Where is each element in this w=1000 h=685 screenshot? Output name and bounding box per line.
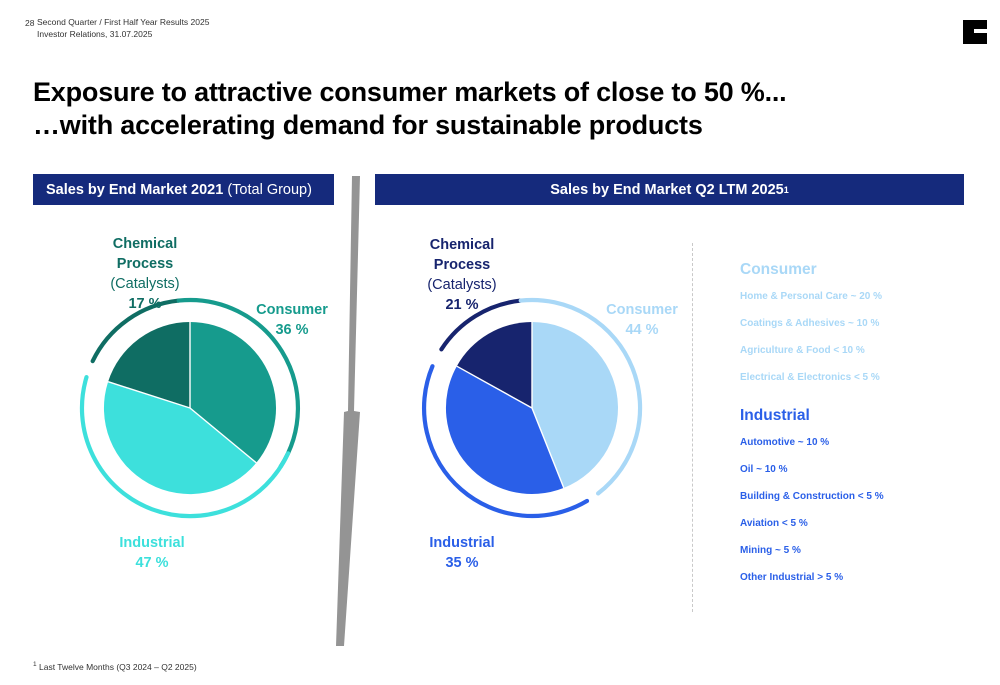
label-line-3: (Catalysts)	[85, 274, 205, 294]
legend-item-coatings-adhesives: Coatings & Adhesives ~ 10 %	[740, 317, 970, 330]
pie-2025-label-consumer: Consumer 44 %	[582, 300, 702, 340]
page-title: Exposure to attractive consumer markets …	[33, 76, 933, 142]
label-value: 17 %	[85, 294, 205, 314]
legend-item-other-industrial: Other Industrial > 5 %	[740, 571, 970, 584]
footnote: 1 Last Twelve Months (Q3 2024 – Q2 2025)	[33, 662, 197, 672]
clariant-logo	[963, 20, 987, 44]
logo-notch	[974, 29, 987, 33]
slice-consumer	[190, 322, 276, 463]
legend-divider-dashed	[692, 243, 693, 612]
legend-item-aviation: Aviation < 5 %	[740, 517, 970, 530]
panel-divider-slant	[330, 176, 370, 646]
legend-heading-industrial: Industrial	[740, 406, 970, 426]
legend-group-consumer: Consumer Home & Personal Care ~ 20 % Coa…	[740, 260, 970, 384]
slice-chemical-process	[457, 322, 532, 408]
label-value: 44 %	[582, 320, 702, 340]
pie-2021-label-industrial: Industrial 47 %	[92, 533, 212, 573]
header-line-2: Investor Relations, 31.07.2025	[37, 29, 209, 41]
label-value: 36 %	[232, 320, 352, 340]
header-subtitle: Second Quarter / First Half Year Results…	[37, 17, 209, 40]
panel-right-banner: Sales by End Market Q2 LTM 20251	[375, 174, 964, 205]
label-name: Industrial	[402, 533, 522, 553]
page-title-line-1: Exposure to attractive consumer markets …	[33, 76, 933, 109]
pie-2025-label-industrial: Industrial 35 %	[402, 533, 522, 573]
legend-item-mining: Mining ~ 5 %	[740, 544, 970, 557]
label-value: 35 %	[402, 553, 522, 573]
label-name: Consumer	[582, 300, 702, 320]
legend-item-building-construction: Building & Construction < 5 %	[740, 490, 970, 503]
label-line-1: Chemical	[85, 234, 205, 254]
slice-chemical-process	[108, 322, 190, 408]
label-name: Consumer	[232, 300, 352, 320]
arc-industrial	[78, 357, 293, 527]
label-line-3: (Catalysts)	[402, 275, 522, 295]
pie-2021-label-consumer: Consumer 36 %	[232, 300, 352, 340]
label-name: Industrial	[92, 533, 212, 553]
legend-item-agriculture-food: Agriculture & Food < 10 %	[740, 344, 970, 357]
legend-item-oil: Oil ~ 10 %	[740, 463, 970, 476]
panel-right-banner-title: Sales by End Market Q2 LTM 2025	[550, 182, 783, 198]
header-line-1: Second Quarter / First Half Year Results…	[37, 17, 209, 29]
legend-item-home-personal-care: Home & Personal Care ~ 20 %	[740, 290, 970, 303]
label-line-1: Chemical	[402, 235, 522, 255]
label-value: 47 %	[92, 553, 212, 573]
page-number: 28	[25, 18, 34, 28]
pie-2021-label-chemical-process: Chemical Process (Catalysts) 17 %	[85, 234, 205, 314]
legend-item-automotive: Automotive ~ 10 %	[740, 436, 970, 449]
slice-consumer	[532, 322, 618, 488]
label-line-2: Process	[85, 254, 205, 274]
page-title-line-2: …with accelerating demand for sustainabl…	[33, 109, 933, 142]
label-line-2: Process	[402, 255, 522, 275]
end-market-legend: Consumer Home & Personal Care ~ 20 % Coa…	[740, 260, 970, 606]
slice-industrial	[446, 366, 564, 494]
slide-canvas: 28 Second Quarter / First Half Year Resu…	[0, 0, 1000, 685]
footnote-text: Last Twelve Months (Q3 2024 – Q2 2025)	[37, 662, 197, 672]
label-value: 21 %	[402, 295, 522, 315]
legend-item-electrical-electronics: Electrical & Electronics < 5 %	[740, 371, 970, 384]
arc-industrial	[419, 352, 588, 527]
legend-group-industrial: Industrial Automotive ~ 10 % Oil ~ 10 % …	[740, 406, 970, 584]
panel-left-banner-title: Sales by End Market 2021	[46, 182, 223, 198]
panel-left-banner-subtitle: (Total Group)	[227, 182, 312, 198]
legend-heading-consumer: Consumer	[740, 260, 970, 280]
pie-2025-label-chemical-process: Chemical Process (Catalysts) 21 %	[402, 235, 522, 315]
slice-industrial	[104, 382, 256, 494]
panel-left-banner: Sales by End Market 2021 (Total Group)	[33, 174, 334, 205]
